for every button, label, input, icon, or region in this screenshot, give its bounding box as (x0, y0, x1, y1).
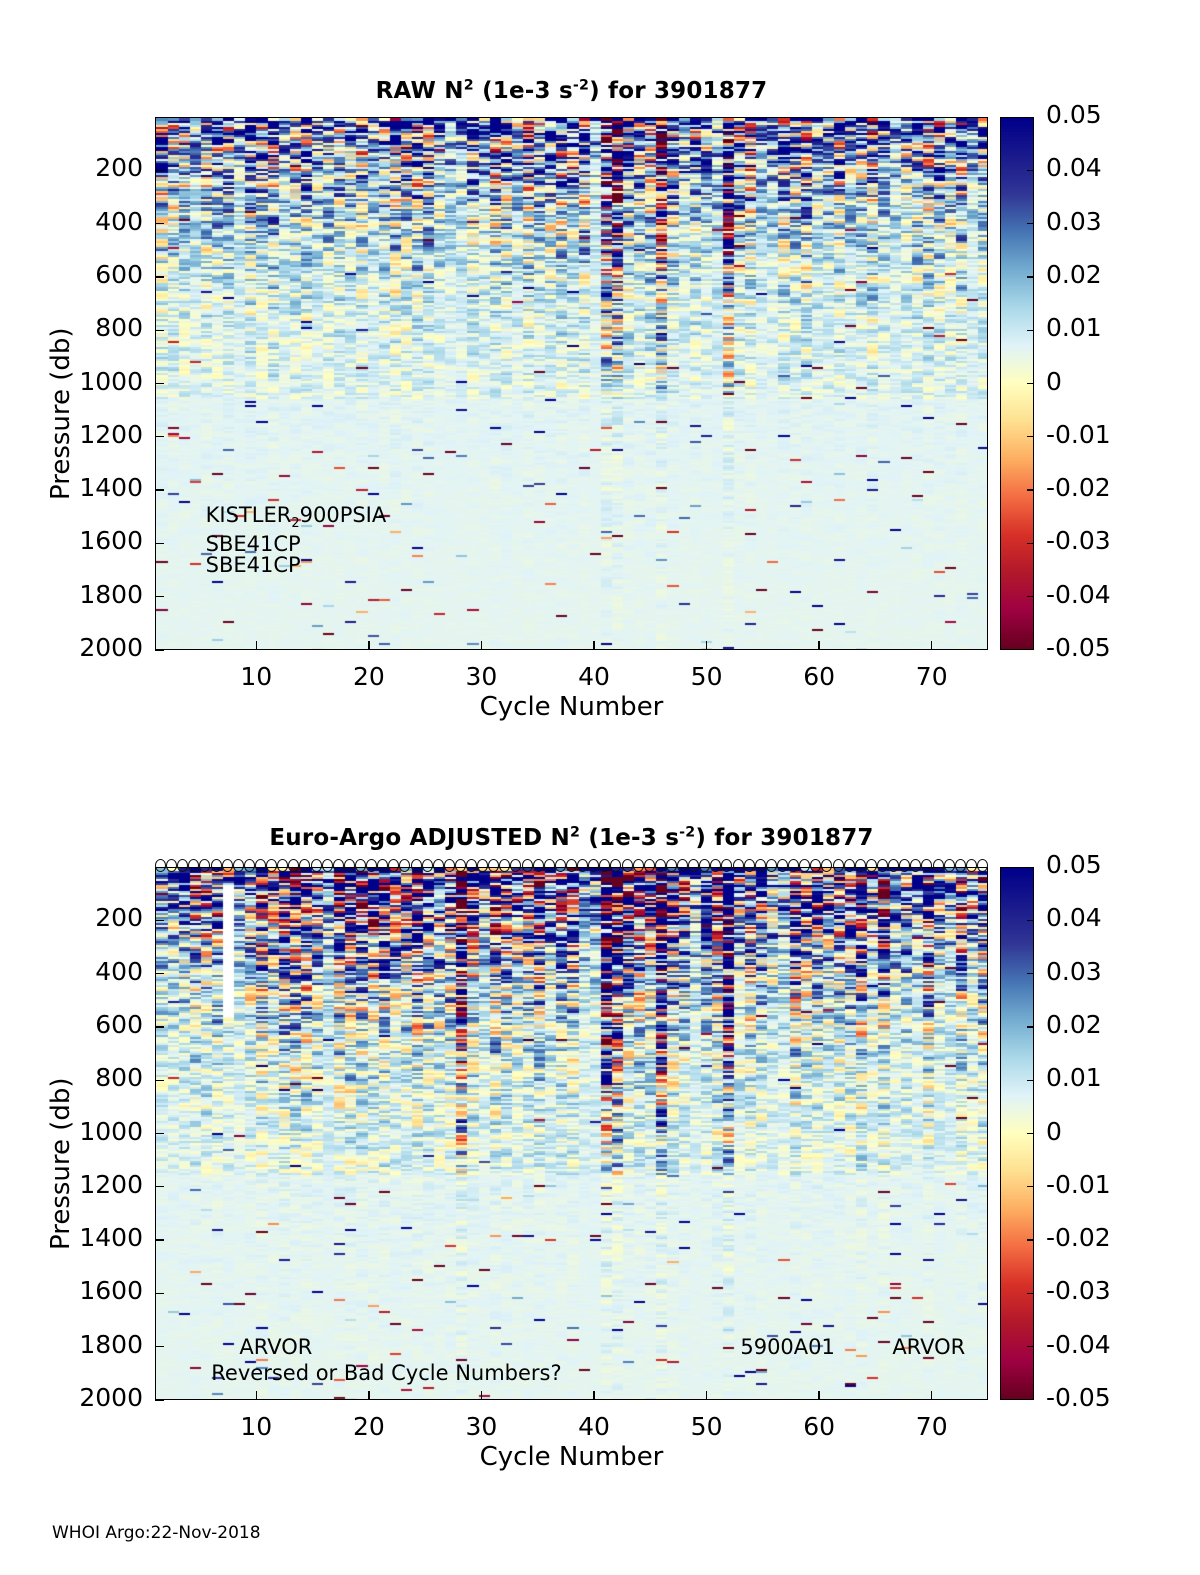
colorbar-tick-label: 0 (1046, 367, 1062, 396)
y-tick (155, 436, 164, 437)
x-tick (818, 1391, 819, 1400)
y-tick (155, 383, 164, 384)
colorbar-tick (1027, 543, 1034, 544)
colorbar-tick (1027, 276, 1034, 277)
x-axis-title-raw: Cycle Number (155, 692, 988, 722)
y-tick-label: 400 (25, 957, 143, 986)
y-tick-label: 400 (25, 207, 143, 236)
colorbar-tick (1027, 1026, 1034, 1027)
x-tick-label: 20 (324, 1412, 414, 1441)
title-text-prefix: RAW N (376, 78, 464, 104)
y-tick (155, 596, 164, 597)
x-tick-label: 50 (662, 662, 752, 691)
y-tick (155, 1186, 164, 1187)
y-tick-label: 1200 (25, 420, 143, 449)
colorbar-tick-label: 0 (1046, 1117, 1062, 1146)
colorbar-tick (1027, 920, 1034, 921)
colorbar-tick-label: -0.04 (1046, 580, 1111, 609)
colorbar-tick (1027, 1293, 1034, 1294)
y-tick-label: 600 (25, 1010, 143, 1039)
heatmap-axes-adjusted[interactable] (155, 867, 988, 1400)
colorbar-tick (1027, 223, 1034, 224)
colorbar-tick-label: 0.05 (1046, 100, 1102, 129)
colorbar-tick-label: -0.02 (1046, 473, 1111, 502)
x-tick-label: 50 (662, 1412, 752, 1441)
x-tick (368, 641, 369, 650)
figure-root: RAW N2 (1e-3 s-2) for 3901877 2004006008… (0, 0, 1200, 1575)
x-axis-title-adjusted: Cycle Number (155, 1442, 988, 1472)
y-tick (155, 973, 164, 974)
colorbar-tick-label: 0.03 (1046, 957, 1102, 986)
x-tick (706, 641, 707, 650)
x-tick (593, 1391, 594, 1400)
colorbar-tick-label: -0.01 (1046, 1170, 1111, 1199)
colorbar-tick-label: -0.05 (1046, 633, 1111, 662)
y-tick-label: 200 (25, 153, 143, 182)
panel-adjusted: Euro-Argo ADJUSTED N2 (1e-3 s-2) for 390… (0, 760, 1200, 1520)
y-tick (155, 1080, 164, 1081)
y-tick (155, 1026, 164, 1027)
panel-raw-title: RAW N2 (1e-3 s-2) for 3901877 (155, 78, 988, 104)
colorbar-tick-label: 0.05 (1046, 850, 1102, 879)
x-tick-label: 20 (324, 662, 414, 691)
colorbar-tick (1027, 1080, 1034, 1081)
y-tick-label: 1400 (25, 1223, 143, 1252)
y-tick (155, 1346, 164, 1347)
x-tick-label: 10 (211, 662, 301, 691)
x-tick-label: 30 (436, 1412, 526, 1441)
colorbar-tick (1027, 1186, 1034, 1187)
y-tick (155, 489, 164, 490)
x-tick-label: 40 (549, 662, 639, 691)
colorbar-tick (1027, 596, 1034, 597)
colorbar-tick-label: -0.03 (1046, 1276, 1111, 1305)
x-tick-label: 60 (774, 662, 864, 691)
x-tick-label: 70 (887, 1412, 977, 1441)
x-tick (368, 1391, 369, 1400)
colorbar-tick-label: -0.01 (1046, 420, 1111, 449)
plot-annotation: Reversed or Bad Cycle Numbers? (211, 1361, 561, 1385)
title-text-suffix: ) for 3901877 (695, 825, 873, 851)
y-tick-label: 200 (25, 903, 143, 932)
colorbar-tick (1027, 1239, 1034, 1240)
colorbar-tick-label: 0.01 (1046, 313, 1102, 342)
y-tick-label: 2000 (25, 1383, 143, 1412)
y-tick-label: 1600 (25, 526, 143, 555)
x-tick (931, 1391, 932, 1400)
y-tick-label: 1800 (25, 1330, 143, 1359)
title-superscript-2: 2 (464, 77, 474, 93)
x-tick-label: 70 (887, 662, 977, 691)
y-tick (155, 1133, 164, 1134)
y-tick (155, 170, 164, 171)
y-tick-label: 800 (25, 1063, 143, 1092)
y-tick-label: 1600 (25, 1276, 143, 1305)
colorbar-tick (1027, 973, 1034, 974)
colorbar-tick (1027, 330, 1034, 331)
y-tick (155, 276, 164, 277)
plot-annotation: ARVOR (892, 1335, 965, 1359)
colorbar-tick (1027, 383, 1034, 384)
y-tick (155, 330, 164, 331)
y-tick-label: 1000 (25, 367, 143, 396)
y-tick-label: 1400 (25, 473, 143, 502)
y-tick (155, 1399, 164, 1400)
x-tick (256, 641, 257, 650)
colorbar-tick-label: 0.02 (1046, 260, 1102, 289)
panel-raw: RAW N2 (1e-3 s-2) for 3901877 2004006008… (0, 0, 1200, 760)
colorbar-tick (1027, 1133, 1034, 1134)
plot-annotation: KISTLER2900PSIA (206, 503, 387, 527)
y-tick-label: 1200 (25, 1170, 143, 1199)
y-tick-label: 1800 (25, 580, 143, 609)
x-tick (706, 1391, 707, 1400)
y-tick-label: 1000 (25, 1117, 143, 1146)
title-text-mid: (1e-3 s (580, 825, 679, 851)
x-tick (818, 641, 819, 650)
y-tick-label: 600 (25, 260, 143, 289)
colorbar-tick-label: 0.01 (1046, 1063, 1102, 1092)
colorbar-tick-label: -0.03 (1046, 526, 1111, 555)
panel-adjusted-title: Euro-Argo ADJUSTED N2 (1e-3 s-2) for 390… (155, 825, 988, 851)
colorbar-tick (1027, 489, 1034, 490)
colorbar-tick-label: 0.04 (1046, 903, 1102, 932)
colorbar-tick-label: -0.02 (1046, 1223, 1111, 1252)
plot-annotation: SBE41CP (206, 553, 301, 577)
x-tick (931, 641, 932, 650)
title-superscript-minus2: -2 (679, 824, 695, 840)
y-tick (155, 920, 164, 921)
x-tick (481, 641, 482, 650)
colorbar-tick-label: -0.05 (1046, 1383, 1111, 1412)
y-axis-title-adjusted: Pressure (db) (46, 1077, 76, 1250)
colorbar-tick-label: 0.03 (1046, 207, 1102, 236)
title-superscript-2: 2 (570, 824, 580, 840)
x-tick-label: 30 (436, 662, 526, 691)
heatmap-canvas-adjusted (156, 868, 988, 1400)
y-tick-label: 800 (25, 313, 143, 342)
y-tick (155, 223, 164, 224)
x-tick (593, 641, 594, 650)
title-superscript-minus2: -2 (573, 77, 589, 93)
y-tick-label: 2000 (25, 633, 143, 662)
colorbar-tick-label: 0.02 (1046, 1010, 1102, 1039)
colorbar-tick-label: 0.04 (1046, 153, 1102, 182)
x-tick (481, 1391, 482, 1400)
title-text-mid: (1e-3 s (474, 78, 573, 104)
colorbar-tick-label: -0.04 (1046, 1330, 1111, 1359)
y-tick (155, 1239, 164, 1240)
colorbar-tick (1027, 170, 1034, 171)
plot-annotation: ARVOR (239, 1335, 312, 1359)
colorbar-tick (1027, 436, 1034, 437)
x-tick-label: 60 (774, 1412, 864, 1441)
y-tick (155, 649, 164, 650)
plot-annotation: 5900A01 (740, 1335, 835, 1359)
colorbar-tick (1027, 1346, 1034, 1347)
x-tick-label: 40 (549, 1412, 639, 1441)
y-tick (155, 543, 164, 544)
x-tick (256, 1391, 257, 1400)
title-text-prefix: Euro-Argo ADJUSTED N (269, 825, 570, 851)
title-text-suffix: ) for 3901877 (589, 78, 767, 104)
y-axis-title-raw: Pressure (db) (46, 327, 76, 500)
footer-credit: WHOI Argo:22-Nov-2018 (52, 1523, 261, 1543)
y-tick (155, 1293, 164, 1294)
x-tick-label: 10 (211, 1412, 301, 1441)
